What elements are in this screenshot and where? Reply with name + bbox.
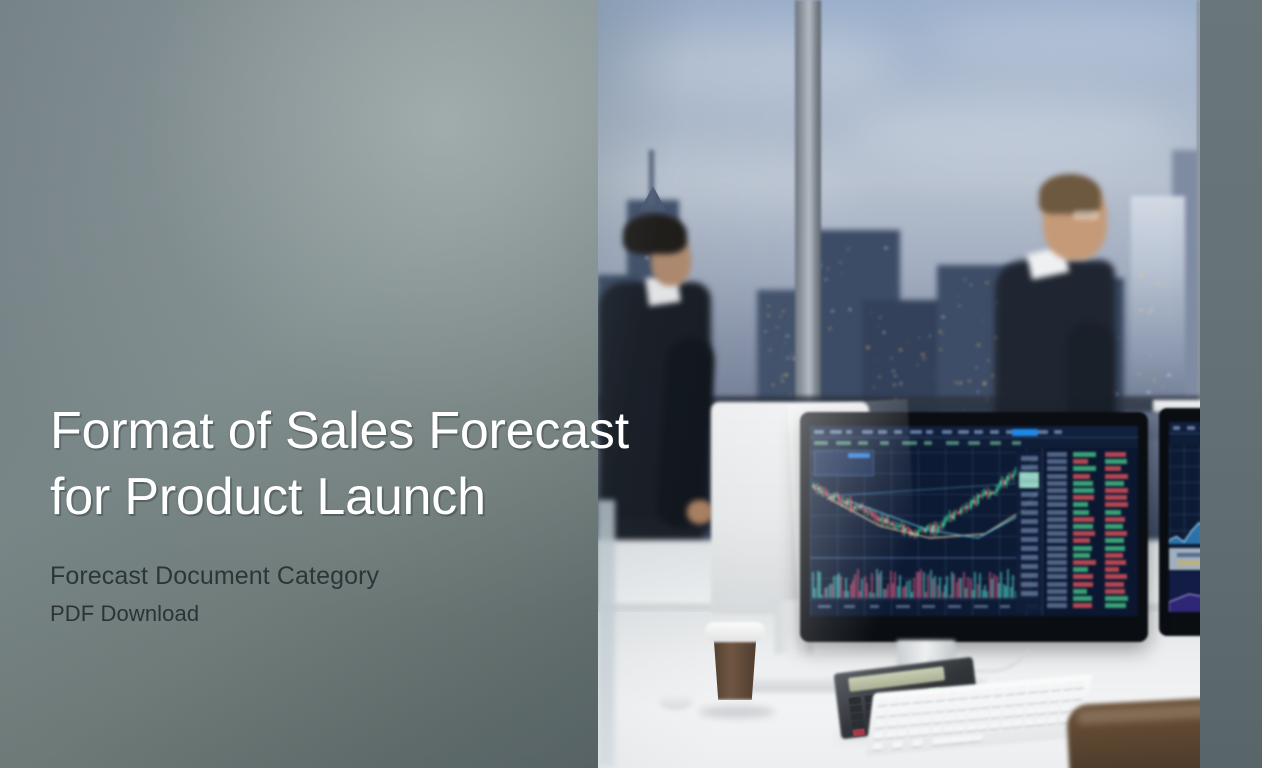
second-monitor-screen [1169, 422, 1200, 612]
second-monitor [1159, 408, 1200, 636]
glass-partition [597, 500, 615, 768]
cup-shadow [699, 706, 775, 718]
cup-sleeve [711, 640, 759, 700]
title-panel [0, 0, 598, 768]
cloud [847, 95, 1177, 175]
right-edge-panel [1200, 0, 1262, 768]
panel-texture [0, 0, 598, 768]
cloud [617, 30, 897, 100]
title-block: Format of Sales Forecast for Product Lau… [50, 398, 590, 630]
hair [1039, 174, 1101, 214]
hero-photo [597, 0, 1200, 768]
businessman-right [995, 172, 1145, 432]
slide-canvas: Format of Sales Forecast for Product Lau… [0, 0, 1262, 768]
mouse [659, 692, 693, 710]
cloud [927, 10, 1200, 70]
download-label[interactable]: PDF Download [50, 598, 590, 630]
page-title-line-1: Format of Sales Forecast [50, 398, 590, 464]
coffee-cup [709, 622, 761, 712]
window-mullion [795, 0, 821, 430]
cup-lid [705, 622, 765, 642]
trading-monitor [800, 412, 1148, 642]
office-chair [1066, 695, 1200, 768]
hair [623, 214, 687, 254]
trading-chart-screen [810, 426, 1138, 616]
chair-highlight [1076, 702, 1200, 725]
page-title-line-2: for Product Launch [50, 464, 590, 530]
hand [687, 500, 713, 524]
eyeglasses [1073, 210, 1099, 220]
document-category: Forecast Document Category [50, 558, 590, 594]
building-spire [649, 150, 654, 205]
